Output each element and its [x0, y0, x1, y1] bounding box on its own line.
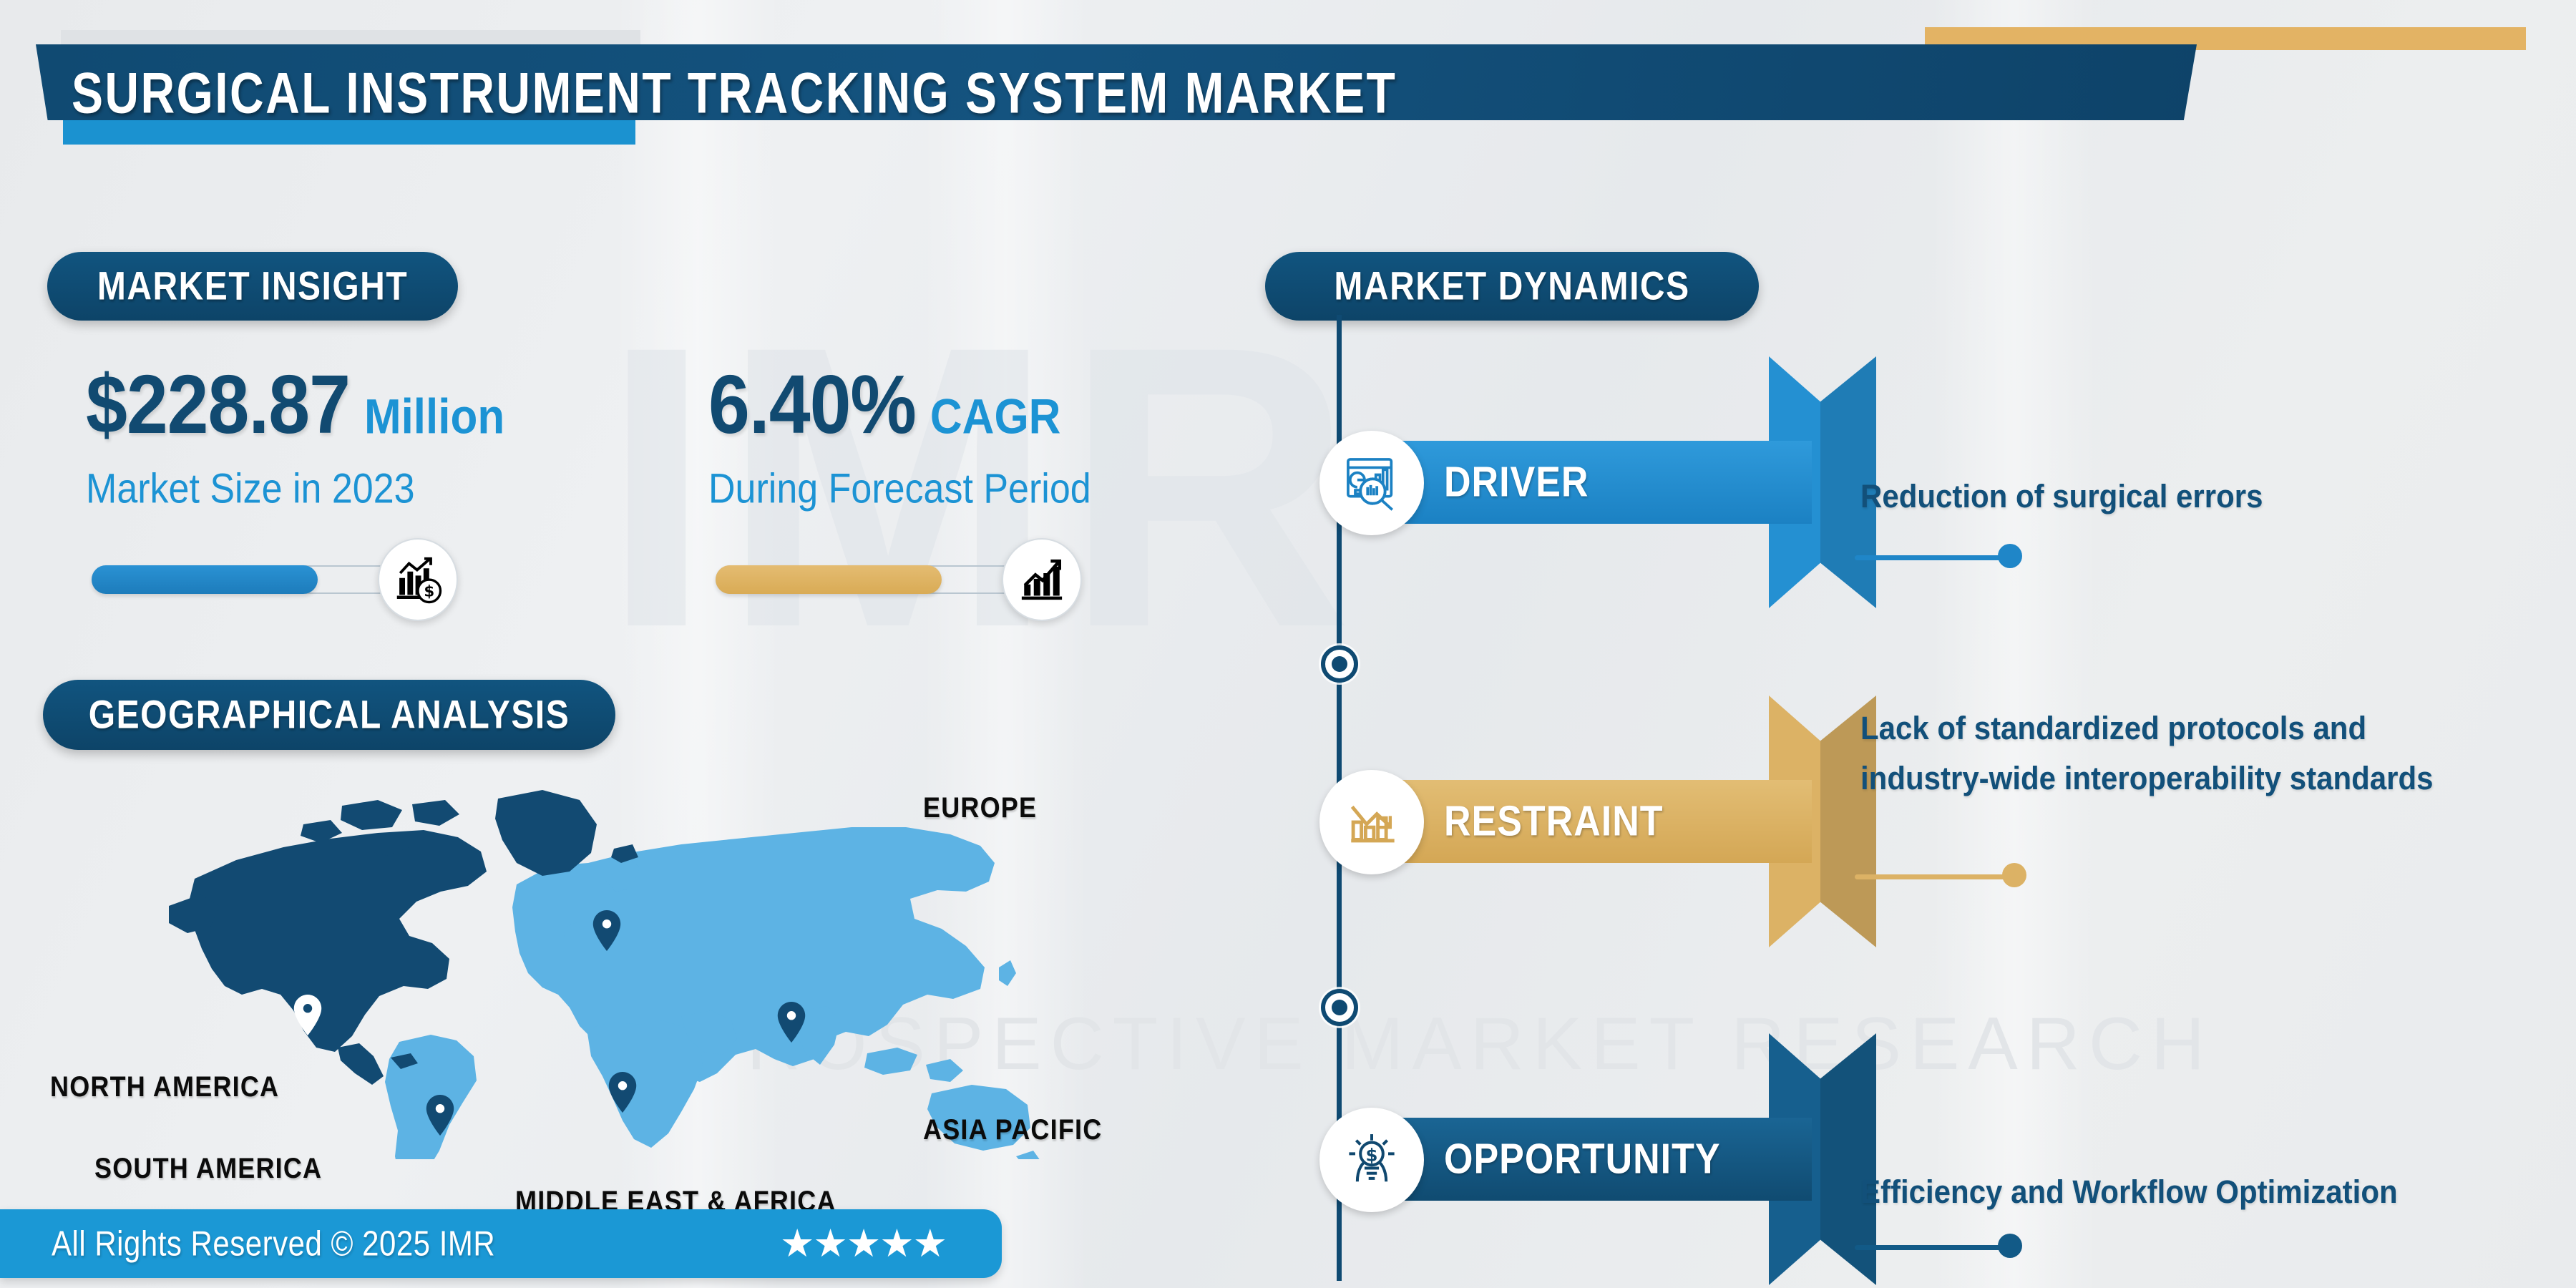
callout-rule: [1855, 874, 2009, 879]
stat-market-size: $228.87Million Market Size in 2023: [86, 372, 504, 508]
market-size-unit: Million: [364, 389, 504, 445]
progress-fill: [92, 565, 318, 594]
section-label-market-insight: MARKET INSIGHT: [47, 252, 458, 321]
section-label-market-dynamics: MARKET DYNAMICS: [1265, 252, 1759, 321]
map-label-europe: EUROPE: [923, 791, 1037, 824]
cagr-caption: During Forecast Period: [708, 465, 1091, 513]
callout-dot: [1998, 544, 2022, 568]
callout-restraint: Lack of standardized protocols and indus…: [1860, 703, 2447, 796]
footer-bar: All Rights Reserved © 2025 IMR ★★★★★: [0, 1209, 1002, 1278]
driver-text: Reduction of surgical errors: [1860, 471, 2404, 521]
header-accent-strip: [63, 120, 635, 145]
restraint-label: RESTRAINT: [1444, 797, 1664, 846]
dynamics-item-driver[interactable]: DRIVER: [1337, 441, 1812, 524]
geographical-analysis-label: GEOGRAPHICAL ANALYSIS: [89, 692, 570, 738]
callout-dot: [1998, 1234, 2022, 1258]
market-dynamics-label: MARKET DYNAMICS: [1334, 263, 1689, 309]
map-label-north-america: NORTH AMERICA: [50, 1070, 279, 1103]
market-size-value: $228.87: [86, 364, 350, 447]
map-label-asia-pacific: ASIA PACIFIC: [923, 1113, 1102, 1146]
dynamics-item-restraint[interactable]: RESTRAINT: [1337, 780, 1812, 863]
opportunity-label: OPPORTUNITY: [1444, 1135, 1721, 1184]
timeline-node: [1321, 645, 1358, 683]
callout-driver: Reduction of surgical errors: [1860, 471, 2404, 517]
market-size-progress: $: [92, 565, 457, 594]
world-map: NORTH AMERICA EUROPE ASIA PACIFIC SOUTH …: [150, 758, 1152, 1159]
callout-rule: [1855, 555, 2005, 560]
dynamics-item-opportunity[interactable]: $ OPPORTUNITY: [1337, 1118, 1812, 1201]
map-label-south-america: SOUTH AMERICA: [94, 1152, 322, 1185]
declining-bar-chart-icon: [1319, 770, 1424, 874]
page-title: SURGICAL INSTRUMENT TRACKING SYSTEM MARK…: [72, 59, 1397, 126]
driver-label: DRIVER: [1444, 458, 1589, 507]
callout-rule: [1855, 1245, 2005, 1250]
progress-fill: [716, 565, 942, 594]
timeline-node: [1321, 989, 1358, 1026]
infographic-root: IMR INTROSPECTIVE MARKET RESEARCH SURGIC…: [0, 0, 2576, 1288]
stat-cagr: 6.40%CAGR During Forecast Period: [708, 372, 1091, 508]
lightbulb-dollar-icon: $: [1319, 1108, 1424, 1212]
bar-chart-dollar-icon: $: [378, 538, 458, 621]
callout-dot: [2002, 863, 2026, 887]
report-magnifier-icon: [1319, 431, 1424, 535]
callout-opportunity: Efficiency and Workflow Optimization: [1860, 1166, 2562, 1213]
cagr-unit: CAGR: [930, 389, 1061, 445]
opportunity-text: Efficiency and Workflow Optimization: [1860, 1166, 2562, 1216]
copyright-text: All Rights Reserved © 2025 IMR: [52, 1224, 495, 1264]
svg-text:$: $: [424, 583, 434, 601]
restraint-text: Lack of standardized protocols and indus…: [1860, 703, 2447, 804]
svg-text:$: $: [1366, 1144, 1378, 1165]
market-insight-label: MARKET INSIGHT: [97, 263, 408, 309]
section-label-geographical-analysis: GEOGRAPHICAL ANALYSIS: [43, 680, 615, 750]
rating-stars-icon: ★★★★★: [780, 1224, 946, 1263]
growth-arrow-chart-icon: [1002, 538, 1082, 621]
market-size-caption: Market Size in 2023: [86, 465, 504, 513]
cagr-value: 6.40%: [708, 364, 916, 447]
header-shadow-strip: [61, 30, 640, 46]
market-dynamics-timeline: DRIVER Reduction of surgical errors: [1216, 315, 2562, 1288]
map-land-base: [385, 827, 1040, 1159]
cagr-progress: [716, 565, 1080, 594]
